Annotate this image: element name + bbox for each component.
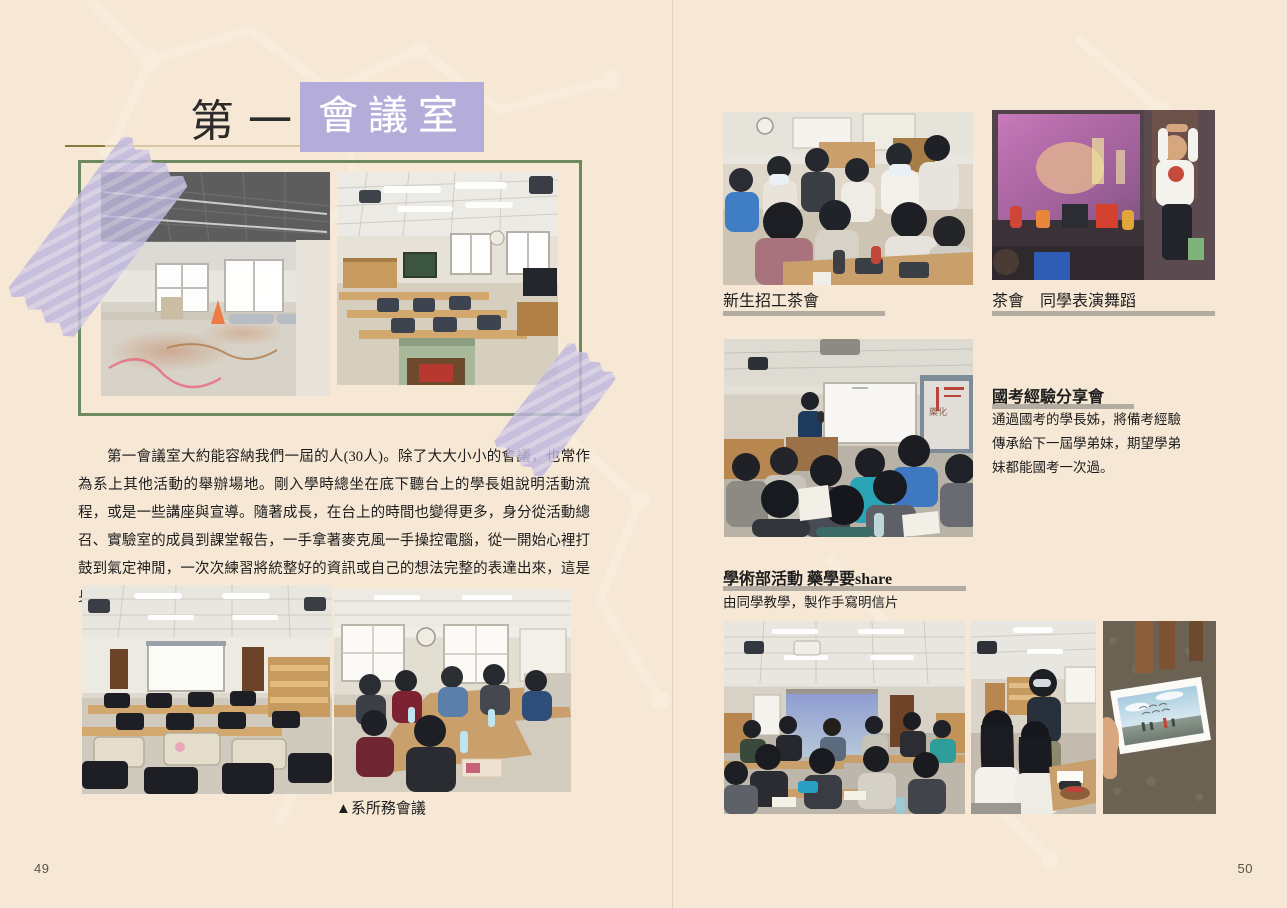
photo-finished-meeting-room	[337, 172, 558, 385]
yearbook-spread: 第一 會議室	[0, 0, 1287, 908]
caption-underline-tea-party	[723, 311, 885, 316]
caption-student-dance: 茶會 同學表演舞蹈	[992, 287, 1136, 311]
photo-lecture-hall-workshop	[724, 621, 965, 814]
photo-tea-party-student-dance	[992, 110, 1215, 280]
photo-national-exam-sharing-session: 藥化	[724, 339, 973, 537]
page-title: 第一 會議室	[190, 82, 484, 152]
left-page: 第一 會議室	[0, 0, 672, 908]
page-gutter	[672, 0, 673, 908]
photo-freshman-welcome-tea-party	[723, 112, 973, 285]
body-national-exam-sharing: 通過國考的學長姊，將備考經驗傳承給下一屆學弟妹，期望學弟妹都能國考一次過。	[992, 408, 1192, 480]
subtitle-academic-section: 由同學教學，製作手寫明信片	[723, 591, 1003, 615]
bottom-photo-caption: ▲系所務會議	[336, 797, 426, 818]
caption-underline-student-dance	[992, 311, 1215, 316]
heading-academic-section: 學術部活動 藥學要share	[723, 565, 892, 589]
photo-students-writing-postcards	[971, 621, 1096, 814]
page-title-boxed: 會議室	[300, 82, 484, 152]
right-page: 新生招工茶會 茶會 同學表演舞蹈 藥化	[672, 0, 1287, 908]
heading-national-exam-sharing: 國考經驗分享會	[992, 383, 1104, 407]
page-number-left: 49	[34, 861, 49, 876]
svg-text:藥化: 藥化	[929, 406, 947, 418]
caption-freshman-tea-party: 新生招工茶會	[723, 287, 819, 311]
photo-handwritten-postcard	[1103, 621, 1216, 814]
photo-empty-classroom-chairs	[82, 585, 332, 794]
page-number-right: 50	[1238, 861, 1253, 876]
page-title-plain: 第一	[190, 100, 306, 152]
photo-faculty-meeting	[334, 589, 571, 792]
